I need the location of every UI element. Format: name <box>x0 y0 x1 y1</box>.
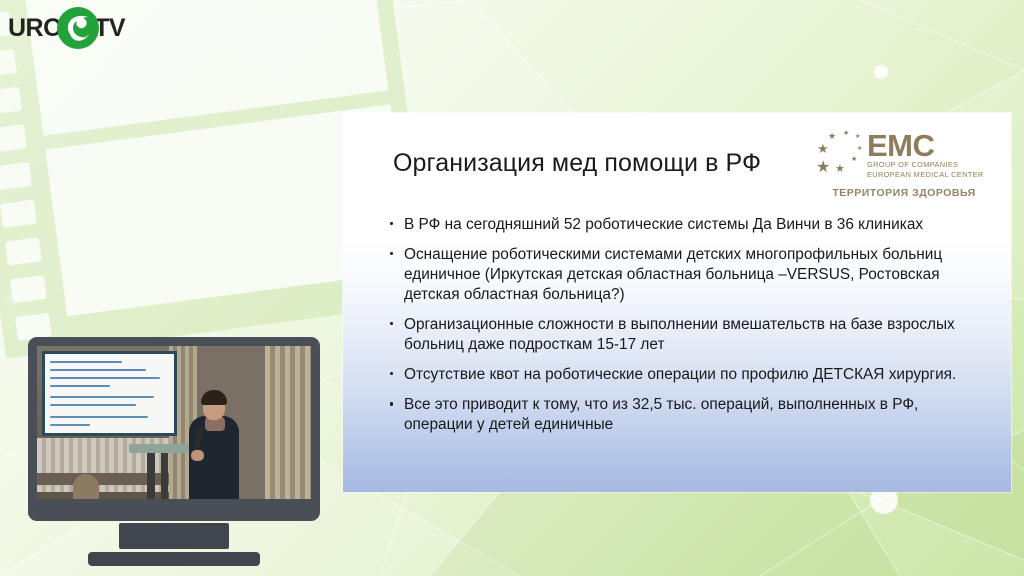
webinar-stage: URO TV <box>0 0 1024 576</box>
emc-subtitle-line2: EUROPEAN MEDICAL CENTER <box>867 170 984 179</box>
monitor-stand-neck <box>119 523 229 549</box>
emc-logo: ★ ★ ★ ★ ★ ★ ★ ★ EMC GROUP OF COMPANIES E… <box>815 130 993 199</box>
bullet-item: Оснащение роботическими системами детски… <box>389 245 967 305</box>
bullet-item: Все это приводит к тому, что из 32,5 тыс… <box>389 395 967 435</box>
projection-screen <box>42 351 177 436</box>
audience-head <box>73 474 99 499</box>
speaker-figure <box>189 390 239 499</box>
emc-stars-icon: ★ ★ ★ ★ ★ ★ ★ ★ <box>815 130 867 180</box>
podium <box>129 444 191 499</box>
monitor-video-player[interactable] <box>28 337 320 566</box>
bullet-item: Отсутствие квот на роботические операции… <box>389 365 967 385</box>
emc-wordmark: EMC <box>867 131 984 160</box>
slide-title: Организация мед помощи в РФ <box>393 149 761 178</box>
logo-text-left: URO <box>8 16 62 41</box>
speaker-video-still <box>37 346 311 499</box>
video-screen[interactable] <box>37 346 311 499</box>
emc-subtitle-line1: GROUP OF COMPANIES <box>867 160 984 169</box>
presentation-slide: Организация мед помощи в РФ ★ ★ ★ ★ ★ ★ … <box>343 113 1011 492</box>
monitor-bezel <box>28 337 320 521</box>
bullet-item: Организационные сложности в выполнении в… <box>389 315 967 355</box>
urotv-leaf-circle-icon <box>57 7 99 49</box>
bullet-item: В РФ на сегодняшний 52 роботические сист… <box>389 215 967 235</box>
slide-bullet-list: В РФ на сегодняшний 52 роботические сист… <box>389 215 967 445</box>
monitor-stand-base <box>88 552 260 566</box>
emc-tagline: ТЕРРИТОРИЯ ЗДОРОВЬЯ <box>815 187 993 199</box>
urotv-logo: URO TV <box>8 5 126 51</box>
